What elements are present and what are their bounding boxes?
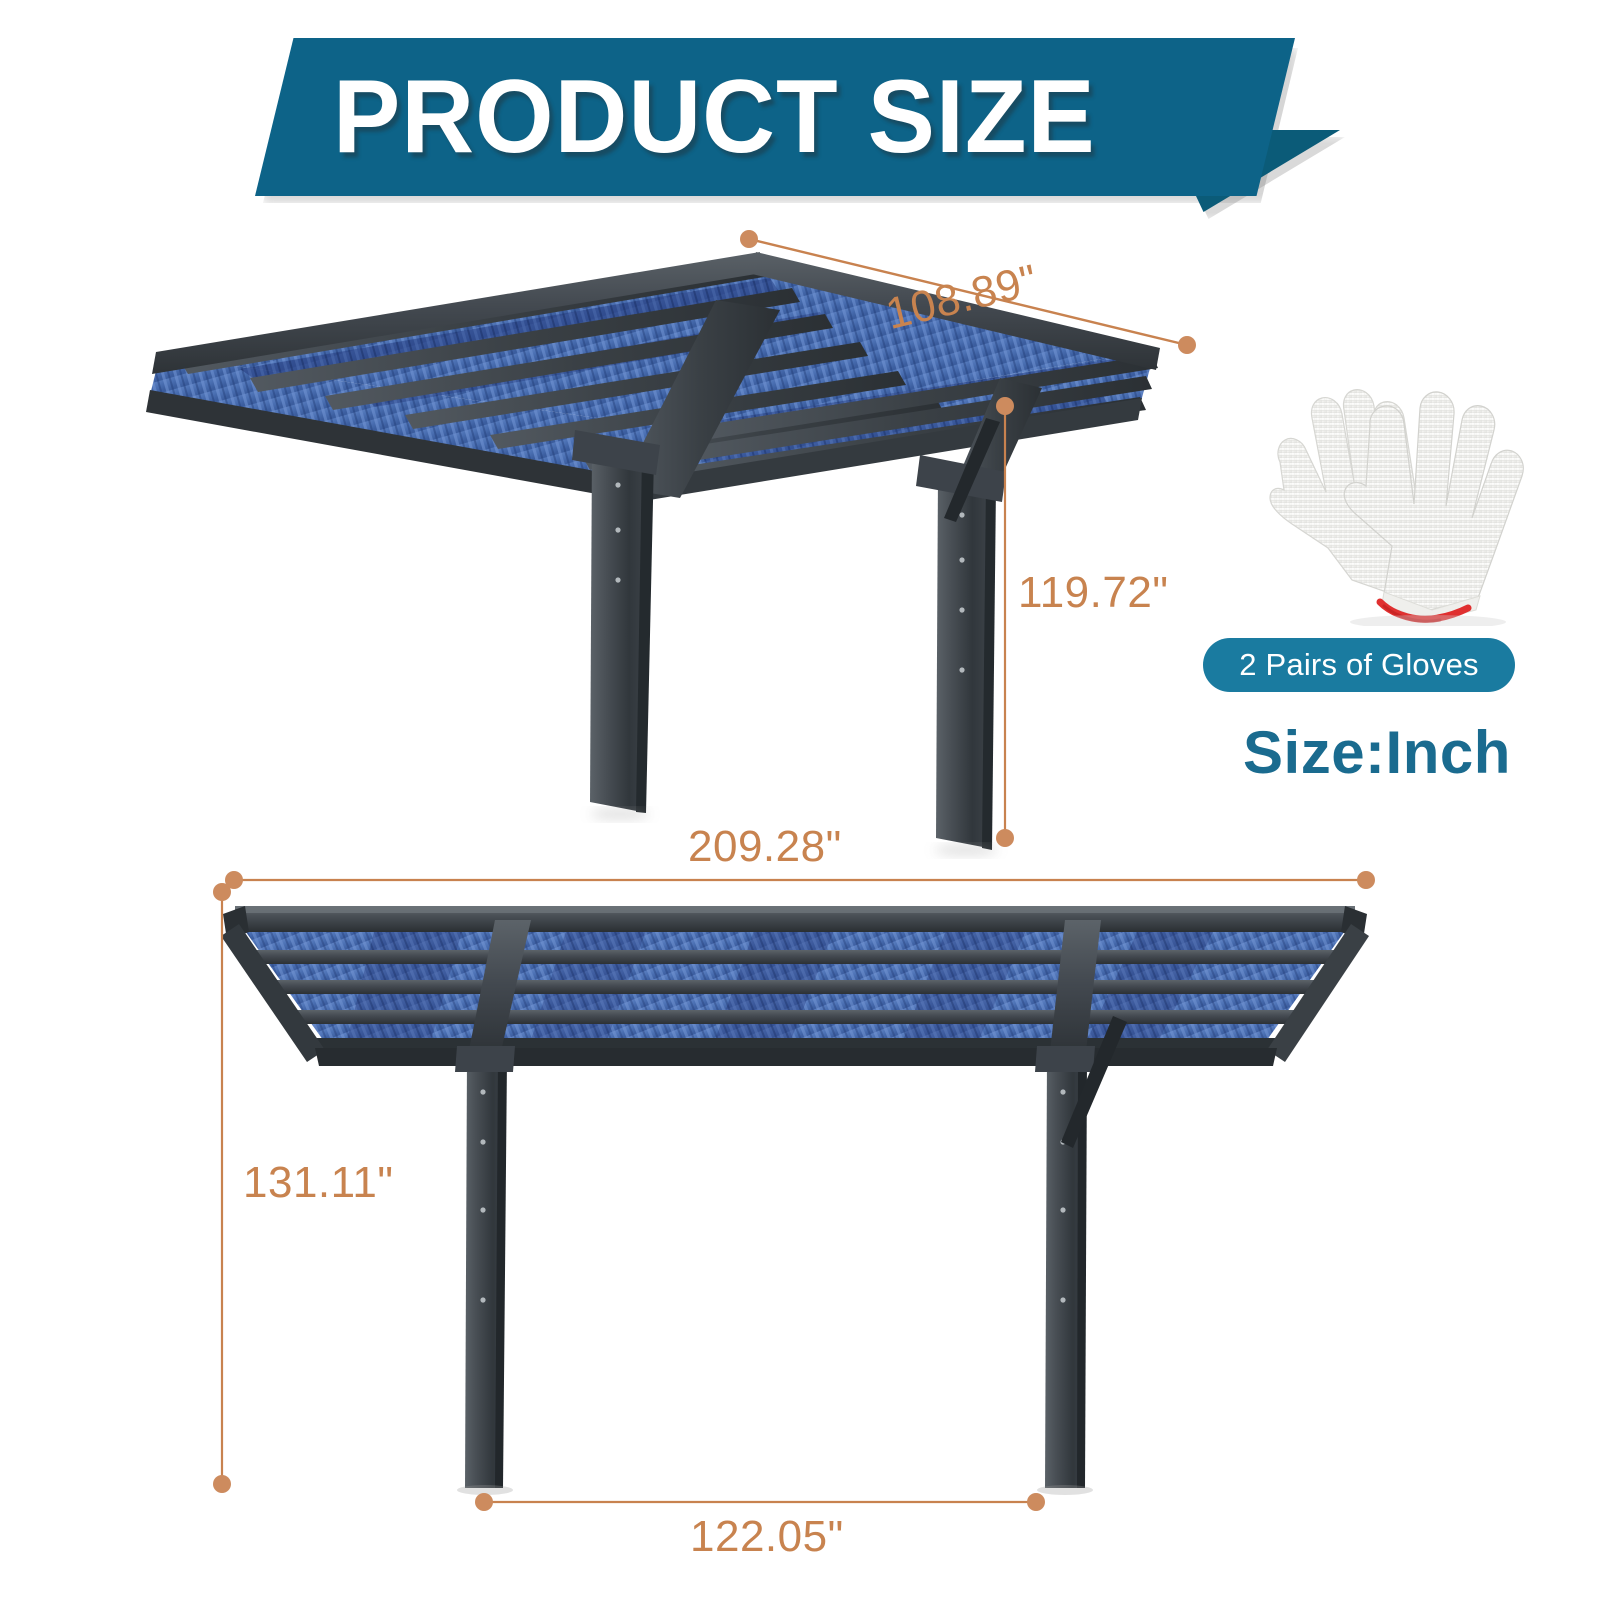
front-left-post [465,1056,507,1488]
product-size-banner: PRODUCT SIZE [255,38,1385,213]
dimension-height-label: 119.72" [1018,568,1168,618]
gloves-icon [1232,358,1572,626]
unit-note: Size:Inch [1243,718,1511,787]
gloves-badge-label: 2 Pairs of Gloves [1239,647,1478,683]
dimension-total-height-line [202,878,242,1498]
infographic-canvas: PRODUCT SIZE [0,0,1600,1600]
dimension-height-line [985,392,1025,852]
gloves-badge: 2 Pairs of Gloves [1203,638,1515,692]
gloves-illustration [1232,358,1572,626]
dimension-width-label: 209.28" [688,822,842,872]
glove-front [1344,392,1523,622]
banner-body: PRODUCT SIZE [255,38,1295,196]
dimension-span-label: 122.05" [690,1512,844,1562]
dimension-total-height-label: 131.11" [243,1158,393,1208]
page-title: PRODUCT SIZE [333,65,1096,169]
center-post [590,445,654,813]
front-right-post-bracket [1035,1046,1095,1072]
center-post-shadow [590,809,650,819]
ridge-highlight [235,906,1355,913]
front-left-post-bracket [455,1046,515,1072]
